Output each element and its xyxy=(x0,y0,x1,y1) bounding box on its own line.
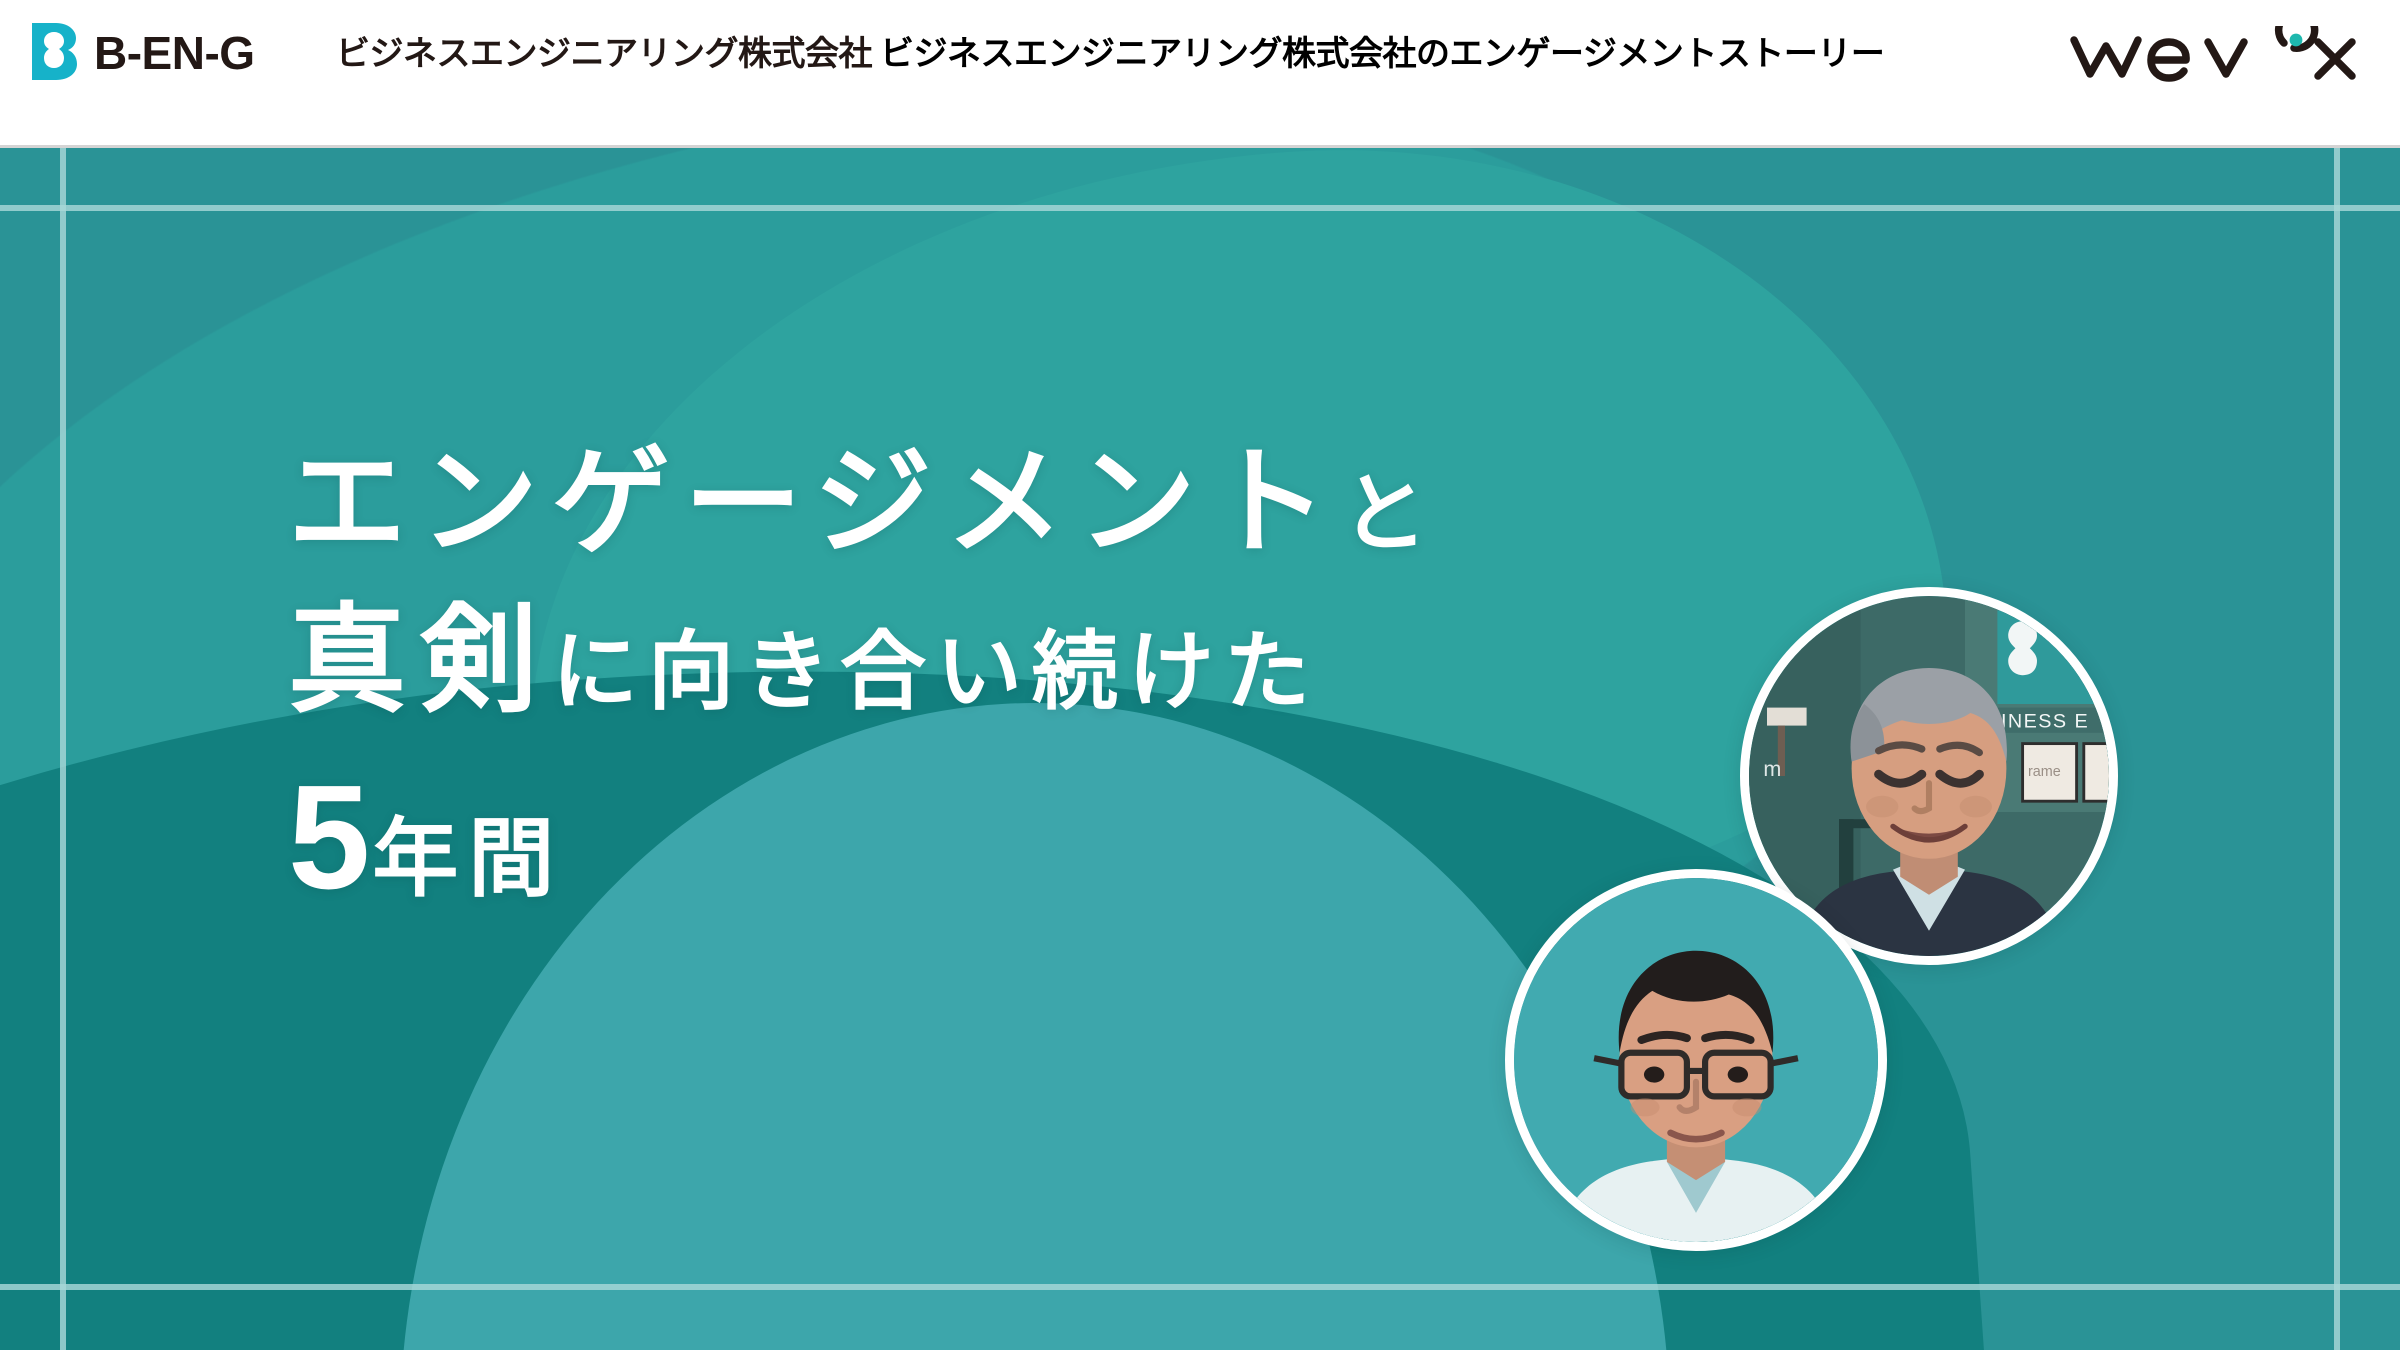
title-line-2-tail: に向き合い続けた xyxy=(552,620,1320,725)
b-en-g-wordmark: B-EN-G xyxy=(94,26,255,80)
header-divider xyxy=(0,145,2400,148)
slide-title: エンゲージメント と 真剣 に向き合い続けた 5 年間 xyxy=(288,432,1438,929)
b-en-g-logo-mark xyxy=(30,22,78,82)
gridline-horizontal-top xyxy=(0,205,2400,211)
title-line-2: 真剣 に向き合い続けた xyxy=(288,590,1438,734)
header-story-title: ビジネスエンジニアリング株式会社のエンゲージメントストーリー xyxy=(880,32,1884,76)
title-year-number: 5 xyxy=(288,760,372,915)
slide-root: B-EN-G ビジネスエンジニアリング株式会社 ビジネスエンジニアリング株式会社… xyxy=(0,0,2400,1350)
gridline-vertical-right xyxy=(2334,147,2340,1350)
title-line-1: エンゲージメント と xyxy=(288,432,1438,576)
slide-canvas: エンゲージメント と 真剣 に向き合い続けた 5 年間 xyxy=(0,147,2400,1350)
svg-text:INESS E: INESS E xyxy=(2001,710,2089,732)
gridline-vertical-left xyxy=(60,147,66,1350)
gridline-horizontal-bottom xyxy=(0,1284,2400,1290)
header-company-name: ビジネスエンジニアリング株式会社 xyxy=(336,32,872,76)
header-bar: B-EN-G ビジネスエンジニアリング株式会社 ビジネスエンジニアリング株式会社… xyxy=(0,0,2400,147)
title-line-3: 5 年間 xyxy=(288,760,1438,915)
svg-text:rame: rame xyxy=(2028,764,2061,780)
title-line-2-emphasis: 真剣 xyxy=(288,590,552,734)
title-year-unit: 年間 xyxy=(372,807,564,912)
avatar-manager xyxy=(1505,869,1887,1251)
title-line-1-emphasis: エンゲージメント xyxy=(288,432,1342,576)
title-line-1-tail: と xyxy=(1342,462,1438,567)
wevox-logo xyxy=(2068,30,2358,84)
svg-text:m: m xyxy=(1763,756,1781,781)
